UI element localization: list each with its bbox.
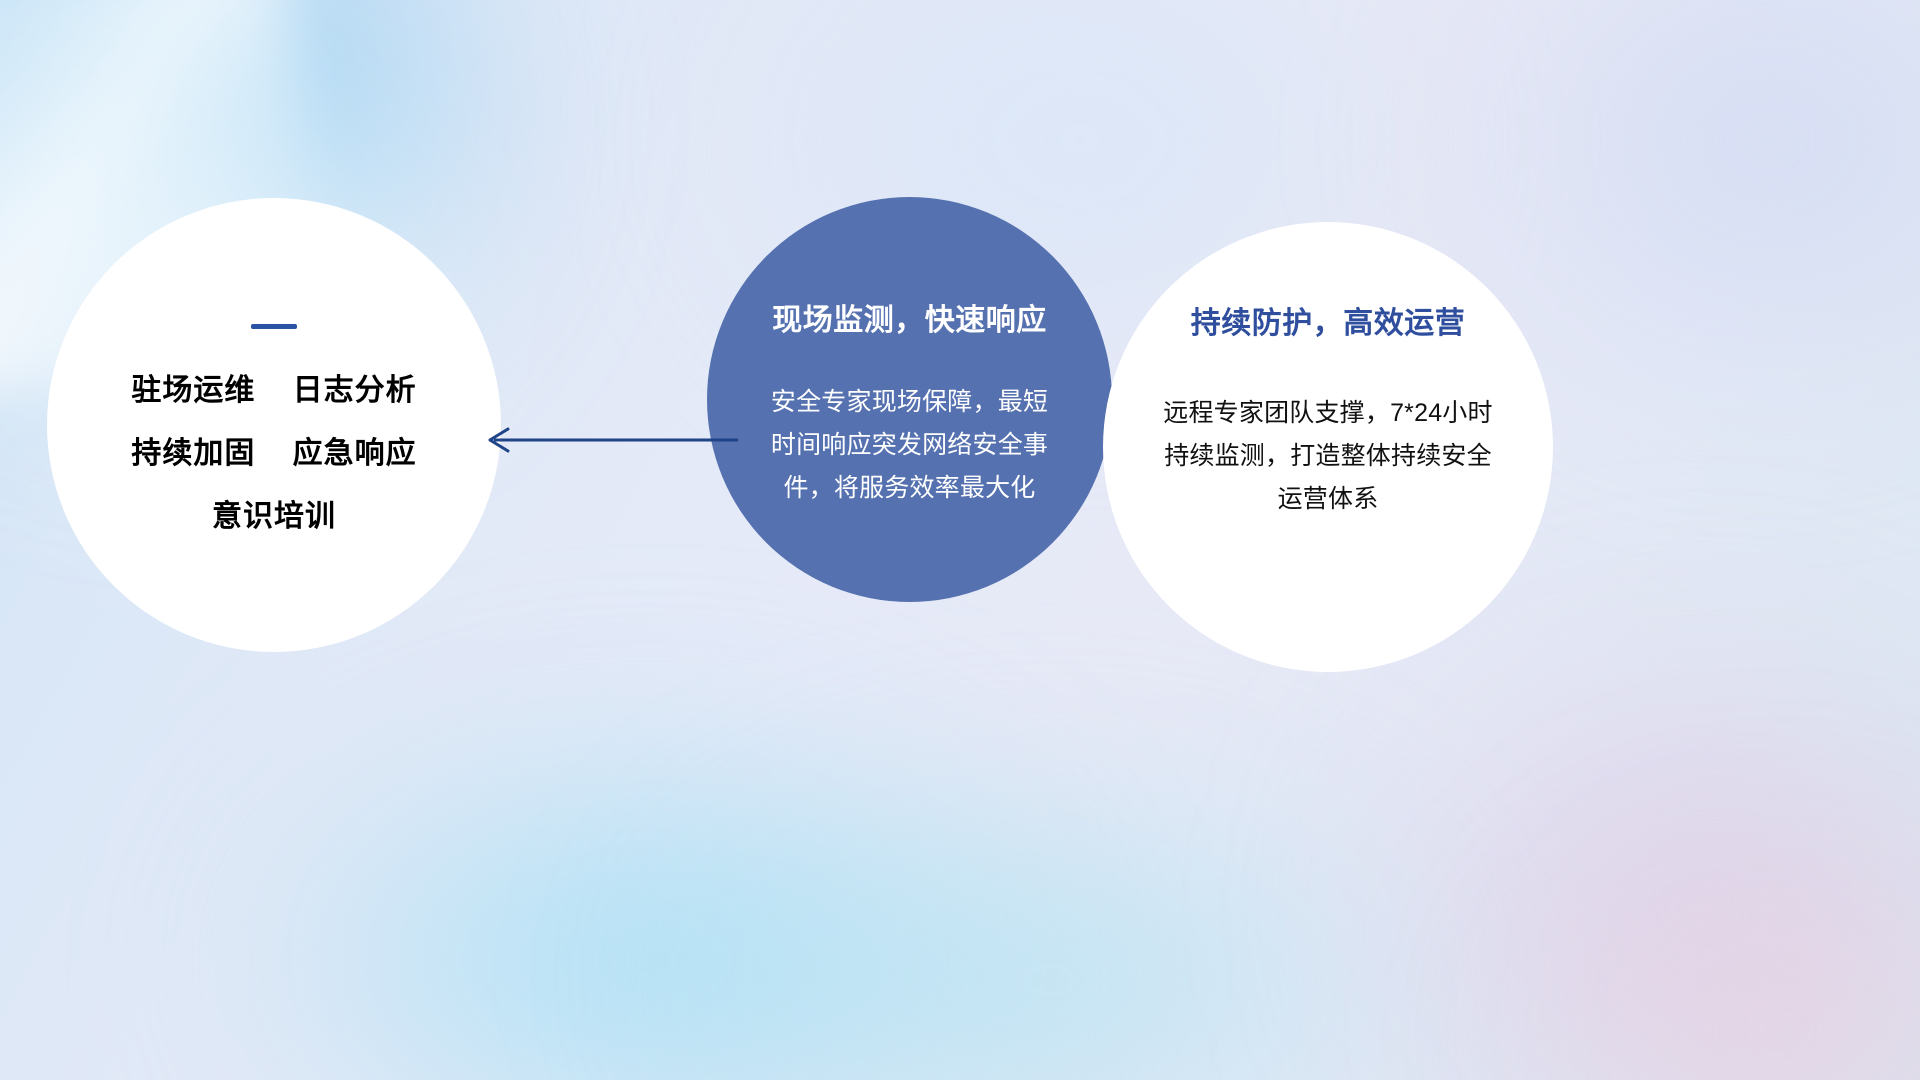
services-line-2: 持续加固 应急响应 bbox=[47, 422, 501, 485]
services-keyword-list: 驻场运维 日志分析 持续加固 应急响应 意识培训 bbox=[47, 359, 501, 548]
onsite-circle-title: 现场监测，快速响应 bbox=[772, 295, 1047, 339]
services-line-3: 意识培训 bbox=[47, 485, 501, 548]
remote-circle-title: 持续防护，高效运营 bbox=[1191, 298, 1466, 342]
services-line-1: 驻场运维 日志分析 bbox=[47, 359, 501, 422]
slide-canvas: 驻场运维 日志分析 持续加固 应急响应 意识培训 现场监测，快速响应 安全专家现… bbox=[0, 0, 1920, 1080]
onsite-monitoring-circle[interactable]: 现场监测，快速响应 安全专家现场保障，最短时间响应突发网络安全事件，将服务效率最… bbox=[707, 197, 1112, 602]
continuous-protection-circle[interactable]: 持续防护，高效运营 远程专家团队支撑，7*24小时持续监测，打造整体持续安全运营… bbox=[1103, 222, 1553, 672]
services-circle[interactable]: 驻场运维 日志分析 持续加固 应急响应 意识培训 bbox=[47, 198, 501, 652]
flow-arrow-icon bbox=[480, 415, 740, 465]
onsite-circle-body: 安全专家现场保障，最短时间响应突发网络安全事件，将服务效率最大化 bbox=[760, 381, 1060, 510]
divider-dash-icon bbox=[251, 324, 297, 329]
remote-circle-body: 远程专家团队支撑，7*24小时持续监测，打造整体持续安全运营体系 bbox=[1153, 392, 1503, 521]
